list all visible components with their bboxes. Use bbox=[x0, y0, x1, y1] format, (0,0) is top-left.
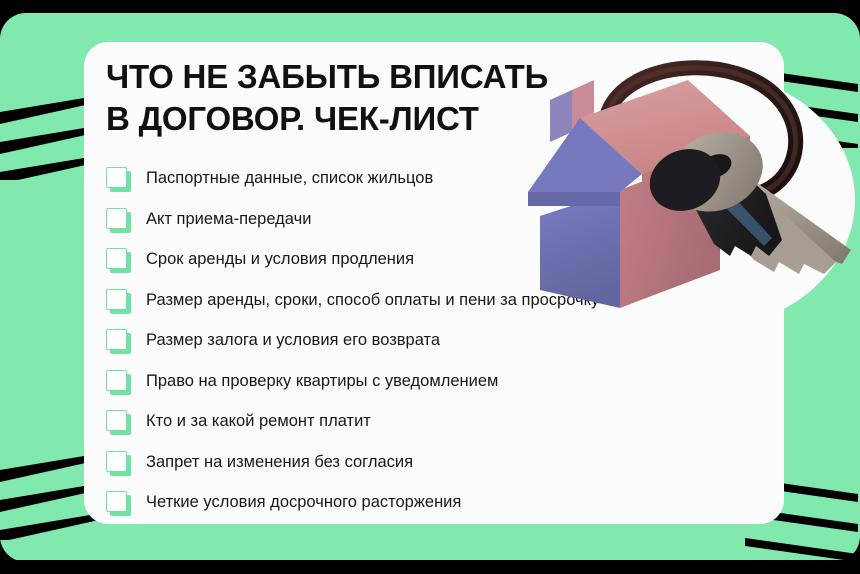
checkbox-box bbox=[106, 329, 127, 350]
content-card: ЧТО НЕ ЗАБЫТЬ ВПИСАТЬ В ДОГОВОР. ЧЕК-ЛИС… bbox=[84, 42, 784, 524]
list-item-label: Срок аренды и условия продления bbox=[146, 249, 414, 269]
checkbox-icon[interactable] bbox=[106, 289, 128, 311]
poster-canvas: ЧТО НЕ ЗАБЫТЬ ВПИСАТЬ В ДОГОВОР. ЧЕК-ЛИС… bbox=[0, 0, 860, 574]
page-title: ЧТО НЕ ЗАБЫТЬ ВПИСАТЬ В ДОГОВОР. ЧЕК-ЛИС… bbox=[106, 56, 626, 140]
checkbox-icon[interactable] bbox=[106, 329, 128, 351]
list-item-label: Кто и за какой ремонт платит bbox=[146, 411, 371, 431]
checkbox-box bbox=[106, 410, 127, 431]
list-item[interactable]: Размер залога и условия его возврата bbox=[106, 320, 766, 360]
list-item-label: Акт приема-передачи bbox=[146, 209, 311, 229]
frame-rule-top bbox=[0, 10, 860, 12]
list-item[interactable]: Кто и за какой ремонт платит bbox=[106, 401, 766, 441]
checkbox-icon[interactable] bbox=[106, 491, 128, 513]
checkbox-icon[interactable] bbox=[106, 451, 128, 473]
checkbox-box bbox=[106, 167, 127, 188]
checkbox-box bbox=[106, 370, 127, 391]
checkbox-box bbox=[106, 208, 127, 229]
list-item[interactable]: Паспортные данные, список жильцов bbox=[106, 158, 766, 198]
frame-rule-bottom bbox=[0, 560, 860, 562]
list-item-label: Размер залога и условия его возврата bbox=[146, 330, 440, 350]
checkbox-icon[interactable] bbox=[106, 167, 128, 189]
checkbox-box bbox=[106, 289, 127, 310]
list-item-label: Запрет на изменения без согласия bbox=[146, 452, 413, 472]
checkbox-box bbox=[106, 491, 127, 512]
list-item[interactable]: Акт приема-передачи bbox=[106, 199, 766, 239]
list-item[interactable]: Размер аренды, сроки, способ оплаты и пе… bbox=[106, 280, 766, 320]
checkbox-icon[interactable] bbox=[106, 208, 128, 230]
list-item-label: Право на проверку квартиры с уведомление… bbox=[146, 371, 498, 391]
list-item[interactable]: Право на проверку квартиры с уведомление… bbox=[106, 361, 766, 401]
list-item-label: Паспортные данные, список жильцов bbox=[146, 168, 433, 188]
checkbox-icon[interactable] bbox=[106, 370, 128, 392]
list-item[interactable]: Срок аренды и условия продления bbox=[106, 239, 766, 279]
list-item[interactable]: Четкие условия досрочного расторжения bbox=[106, 482, 766, 522]
checkbox-box bbox=[106, 248, 127, 269]
list-item[interactable]: Запрет на изменения без согласия bbox=[106, 442, 766, 482]
checkbox-box bbox=[106, 451, 127, 472]
list-item-label: Размер аренды, сроки, способ оплаты и пе… bbox=[146, 290, 599, 310]
list-item-label: Четкие условия досрочного расторжения bbox=[146, 492, 461, 512]
checkbox-icon[interactable] bbox=[106, 410, 128, 432]
checklist: Паспортные данные, список жильцов Акт пр… bbox=[106, 158, 766, 523]
checkbox-icon[interactable] bbox=[106, 248, 128, 270]
